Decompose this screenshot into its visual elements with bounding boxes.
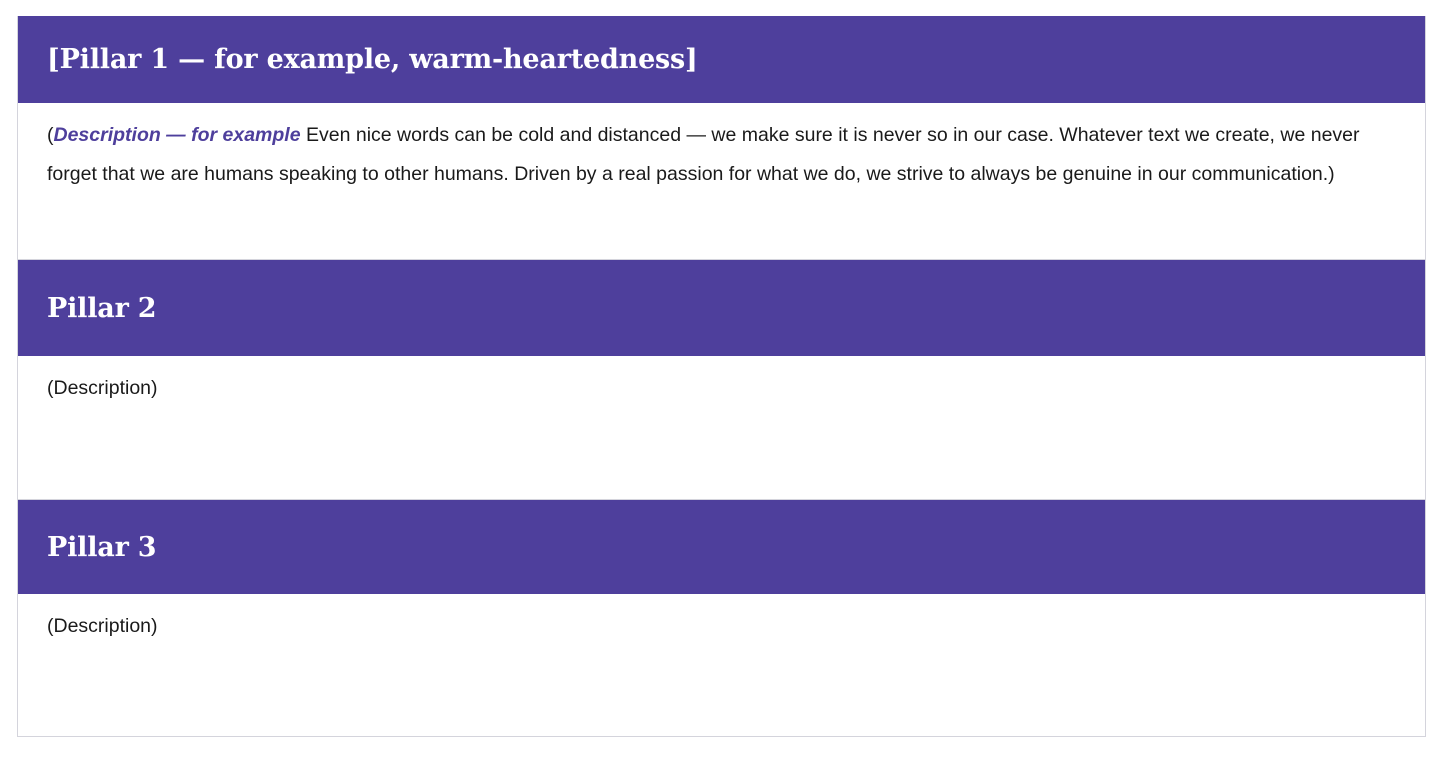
- page-root: [Pillar 1 — for example, warm-heartednes…: [0, 0, 1442, 762]
- pillar-1-emphasis: Description — for example: [54, 124, 301, 146]
- pillar-1-description: (Description — for example Even nice wor…: [47, 116, 1395, 194]
- pillar-3-header-label: Pillar 3: [47, 532, 156, 563]
- pillar-2-body: (Description): [18, 356, 1425, 499]
- pillar-section-1: [Pillar 1 — for example, warm-heartednes…: [18, 16, 1425, 259]
- pillar-2-header: Pillar 2: [18, 260, 1425, 356]
- pillar-1-header: [Pillar 1 — for example, warm-heartednes…: [18, 16, 1425, 103]
- pillar-3-body: (Description): [18, 594, 1425, 737]
- pillar-1-header-label: [Pillar 1 — for example, warm-heartednes…: [47, 44, 698, 75]
- pillar-2-header-label: Pillar 2: [47, 293, 156, 324]
- pillars-table: [Pillar 1 — for example, warm-heartednes…: [17, 16, 1426, 737]
- pillar-2-description: (Description): [47, 369, 1395, 408]
- pillar-3-description: (Description): [47, 607, 1395, 646]
- pillar-3-header: Pillar 3: [18, 500, 1425, 594]
- pillar-section-3: Pillar 3 (Description): [18, 500, 1425, 737]
- pillar-1-body: (Description — for example Even nice wor…: [18, 103, 1425, 259]
- pillar-section-2: Pillar 2 (Description): [18, 260, 1425, 499]
